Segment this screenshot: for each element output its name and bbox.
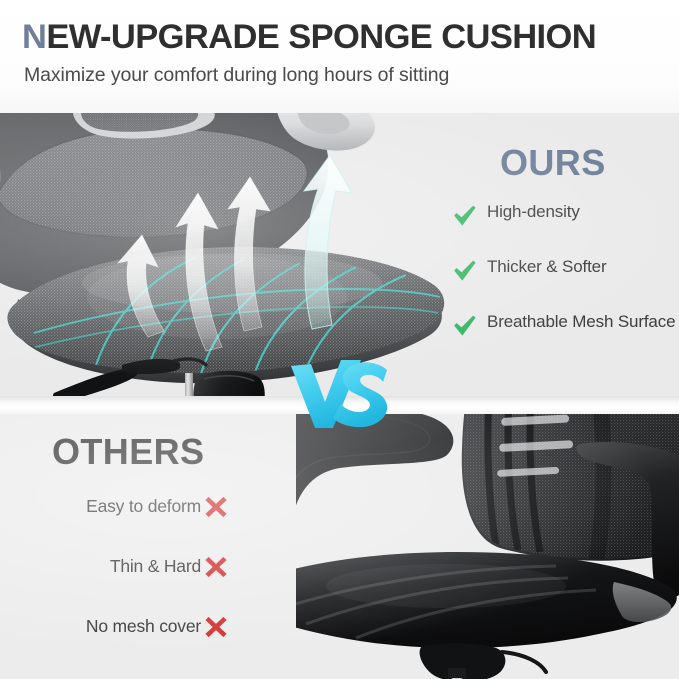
ours-heading: OURS	[500, 145, 606, 181]
list-item-label: Thicker & Softer	[487, 257, 606, 277]
cross-icon	[203, 614, 229, 640]
others-block: OTHERS Easy to deform Thin & Hard	[16, 422, 261, 672]
list-item-label: Breathable Mesh Surface	[487, 312, 675, 332]
page-subtitle: Maximize your comfort during long hours …	[24, 66, 449, 86]
page-title-accent-letter: N	[22, 18, 46, 56]
list-item-label: High-density	[487, 202, 580, 222]
ours-block: OURS High-density Thicker & Softer	[452, 135, 679, 400]
list-item-label: Easy to deform	[86, 497, 201, 516]
list-item: No mesh cover	[16, 614, 229, 640]
product-comparison-infographic: NEW-UPGRADE SPONGE CUSHION Maximize your…	[0, 0, 679, 679]
list-item: Breathable Mesh Surface	[452, 312, 679, 339]
list-item-label: Thin & Hard	[110, 557, 201, 576]
list-item: Thin & Hard	[16, 554, 229, 580]
page-title-rest: EW-UPGRADE SPONGE CUSHION	[46, 18, 596, 56]
others-comparison-panel: OTHERS Easy to deform Thin & Hard	[0, 414, 679, 679]
others-heading: OTHERS	[52, 434, 204, 470]
page-title: NEW-UPGRADE SPONGE CUSHION	[22, 20, 596, 55]
black-office-chair-image	[296, 414, 679, 679]
check-icon	[452, 258, 478, 284]
header-band: NEW-UPGRADE SPONGE CUSHION Maximize your…	[0, 0, 679, 113]
ours-comparison-panel: OURS High-density Thicker & Softer	[0, 113, 679, 400]
others-drawback-list: Easy to deform Thin & Hard	[16, 494, 229, 674]
list-item: High-density	[452, 202, 679, 229]
grey-ergonomic-chair-image	[0, 113, 452, 400]
cross-icon	[203, 554, 229, 580]
list-item: Thicker & Softer	[452, 257, 679, 284]
height-adjust-lever	[502, 652, 546, 672]
check-icon	[452, 313, 478, 339]
cross-icon	[203, 494, 229, 520]
check-icon	[452, 203, 478, 229]
chair-tilt-lever	[53, 368, 138, 399]
section-divider	[0, 396, 679, 416]
list-item-label: No mesh cover	[86, 617, 201, 636]
ours-feature-list: High-density Thicker & Softer Breathable…	[452, 202, 679, 367]
list-item: Easy to deform	[16, 494, 229, 520]
